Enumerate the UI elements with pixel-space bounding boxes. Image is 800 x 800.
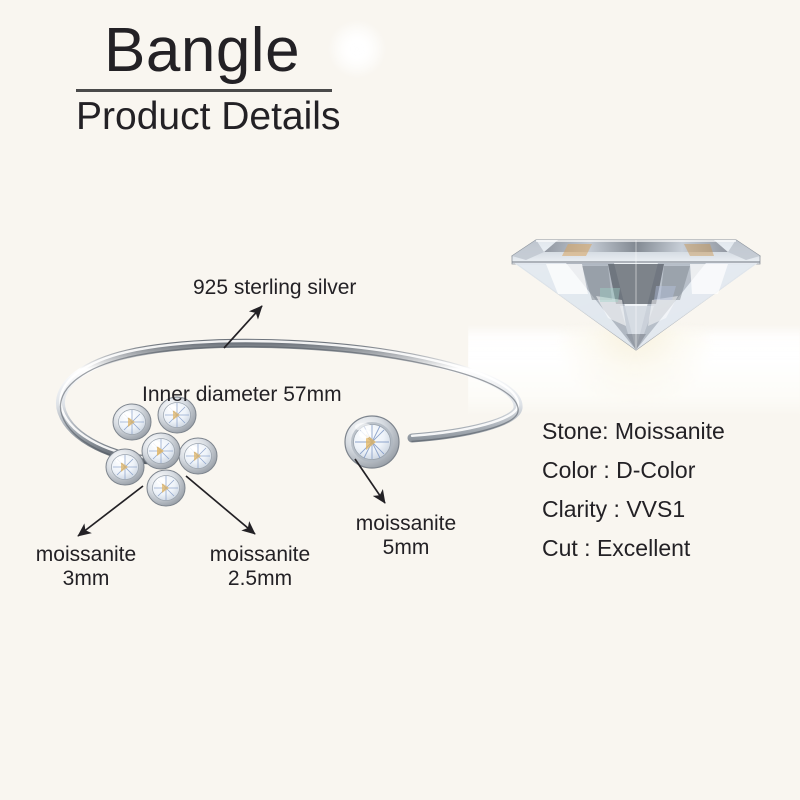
terminal-stone-5mm (345, 416, 399, 468)
spec-stone: Stone: Moissanite (542, 420, 792, 443)
page-subtitle: Product Details (76, 96, 496, 139)
callout-inner-diameter: Inner diameter 57mm (142, 383, 342, 407)
callout-25mm-size: 2.5mm (190, 567, 330, 591)
petal-stone (179, 438, 217, 474)
callout-5mm-size: 5mm (338, 536, 474, 560)
callout-sterling-silver: 925 sterling silver (193, 276, 356, 300)
header: Bangle Product Details (76, 18, 496, 139)
spec-color: Color : D-Color (542, 459, 792, 482)
product-details-image: Bangle Product Details (0, 0, 800, 800)
specification-list: Stone: Moissanite Color : D-Color Clarit… (542, 420, 792, 560)
bangle-photo (20, 330, 560, 550)
callout-moissanite-5mm: moissanite 5mm (338, 512, 474, 561)
page-title: Bangle (104, 18, 496, 83)
spec-clarity: Clarity : VVS1 (542, 498, 792, 521)
center-stone (142, 433, 180, 469)
petal-stone (113, 404, 151, 440)
callout-3mm-size: 3mm (16, 567, 156, 591)
petal-stone (147, 470, 185, 506)
flower-cluster (106, 397, 217, 506)
callout-moissanite-2-5mm: moissanite 2.5mm (190, 543, 330, 592)
title-divider (76, 89, 332, 92)
callout-3mm-name: moissanite (16, 543, 156, 567)
callout-25mm-name: moissanite (190, 543, 330, 567)
spec-cut: Cut : Excellent (542, 537, 792, 560)
petal-stone (106, 449, 144, 485)
callout-moissanite-3mm: moissanite 3mm (16, 543, 156, 592)
callout-5mm-name: moissanite (338, 512, 474, 536)
